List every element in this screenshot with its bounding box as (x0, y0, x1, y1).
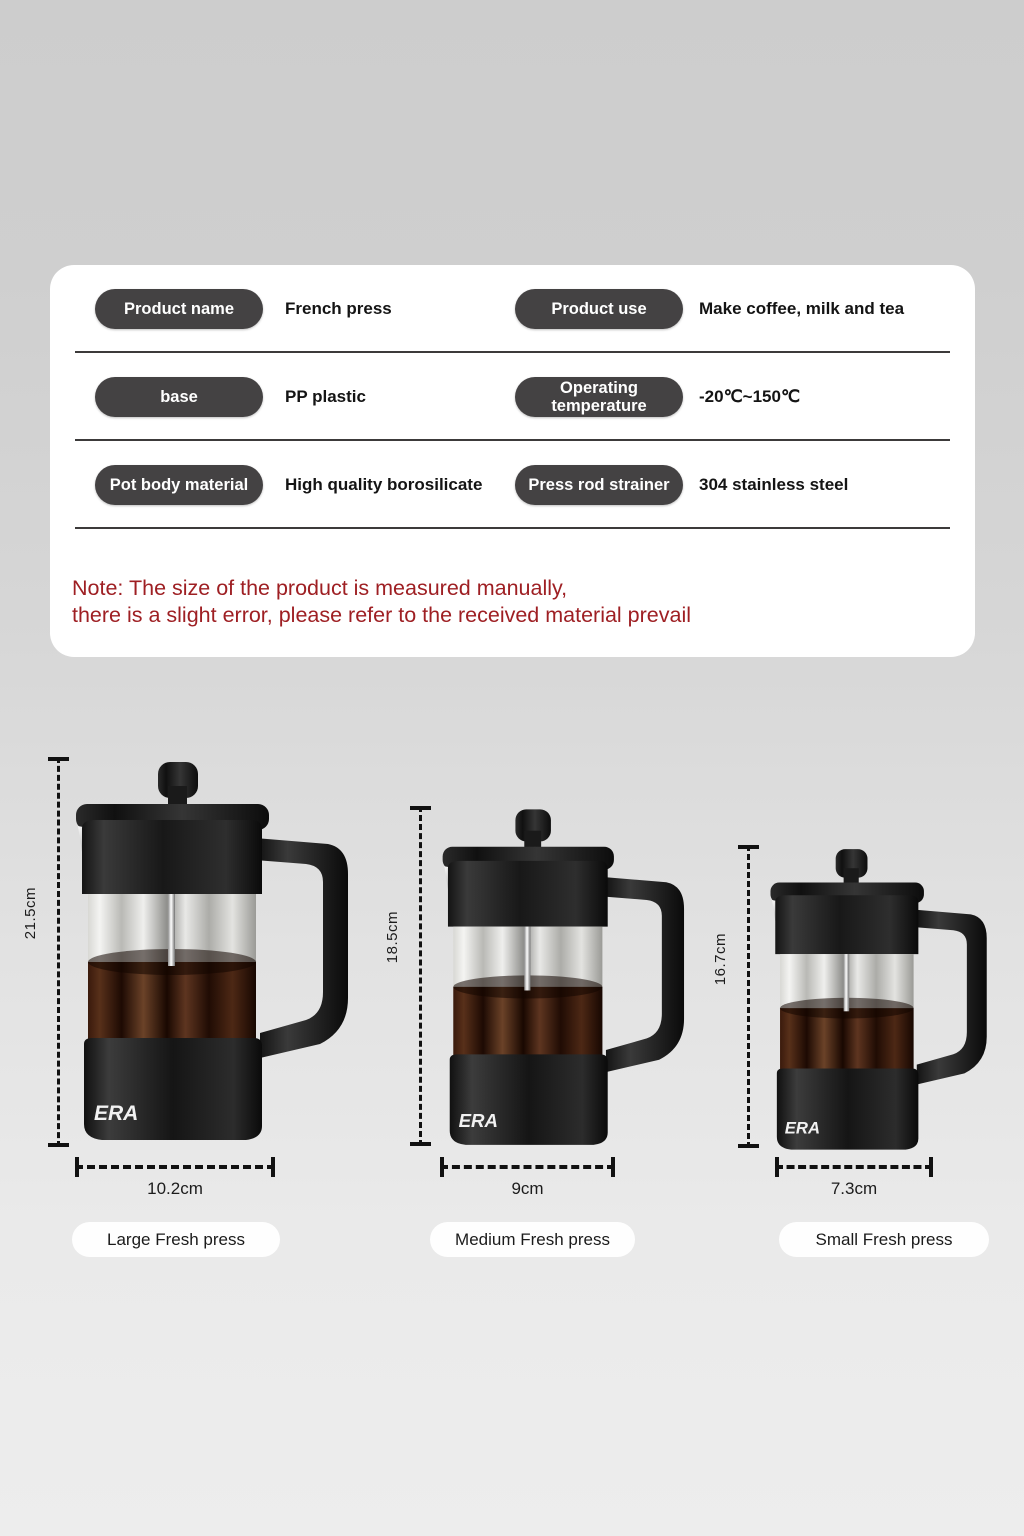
spec-label-press-rod-strainer: Press rod strainer (515, 465, 683, 505)
brand-mark: ERA (459, 1110, 498, 1131)
height-label-medium: 18.5cm (384, 911, 401, 963)
dimension-line (775, 1165, 933, 1169)
spec-cell: Product use Make coffee, milk and tea (515, 289, 955, 329)
width-label-small: 7.3cm (775, 1179, 933, 1199)
dimension-cap-bottom (410, 1142, 431, 1146)
product-name-pill-small: Small Fresh press (779, 1222, 989, 1257)
spec-value-operating-temperature: -20℃~150℃ (699, 387, 800, 407)
note-line-2: there is a slight error, please refer to… (72, 602, 902, 629)
dimension-cap-left (440, 1157, 444, 1177)
dimension-cap-bottom (48, 1143, 69, 1147)
spec-label-operating-temperature: Operating temperature (515, 377, 683, 417)
dimension-cap-right (271, 1157, 275, 1177)
dimension-line (419, 806, 422, 1146)
spec-label-product-use: Product use (515, 289, 683, 329)
brand-mark: ERA (785, 1119, 820, 1138)
dimension-line (747, 845, 750, 1148)
dimension-cap-right (611, 1157, 615, 1177)
french-press-large: ERA (70, 748, 360, 1148)
french-press-small: ERA (765, 838, 997, 1156)
spec-cell: Press rod strainer 304 stainless steel (515, 465, 955, 505)
height-label-small: 16.7cm (712, 933, 729, 985)
spec-cell: base PP plastic (95, 377, 515, 417)
spec-label-product-name: Product name (95, 289, 263, 329)
dimension-line (440, 1165, 615, 1169)
dimension-cap-bottom (738, 1144, 759, 1148)
table-row: base PP plastic Operating temperature -2… (50, 353, 975, 441)
handle (255, 838, 348, 1058)
dimension-cap-left (75, 1157, 79, 1177)
dimension-cap-right (929, 1157, 933, 1177)
brand-mark: ERA (94, 1102, 138, 1125)
spec-label-pot-body-material: Pot body material (95, 465, 263, 505)
plunger-rod (168, 894, 175, 966)
dimension-cap-top (410, 806, 431, 810)
spec-table: Product name French press Product use Ma… (50, 265, 975, 529)
upper-collar (448, 861, 608, 927)
plunger-rod (524, 927, 530, 991)
measurement-note: Note: The size of the product is measure… (72, 575, 902, 629)
dimension-cap-left (775, 1157, 779, 1177)
handle (913, 910, 987, 1085)
spec-cell: Operating temperature -20℃~150℃ (515, 377, 955, 417)
spec-label-base: base (95, 377, 263, 417)
width-label-large: 10.2cm (75, 1179, 275, 1199)
spec-value-base: PP plastic (285, 387, 366, 407)
note-line-1: Note: The size of the product is measure… (72, 575, 902, 602)
spec-value-pot-body-material: High quality borosilicate (285, 475, 482, 495)
upper-collar (775, 895, 918, 954)
product-name-pill-large: Large Fresh press (72, 1222, 280, 1257)
spec-value-product-use: Make coffee, milk and tea (699, 299, 904, 319)
base (450, 1054, 608, 1145)
product-name-pill-medium: Medium Fresh press (430, 1222, 635, 1257)
upper-collar (82, 820, 262, 894)
spec-cell: Pot body material High quality borosilic… (95, 465, 515, 505)
dimension-line (75, 1165, 275, 1169)
handle (602, 877, 685, 1072)
height-label-large: 21.5cm (22, 887, 39, 939)
dimension-cap-top (738, 845, 759, 849)
french-press-medium: ERA (437, 797, 695, 1152)
dimension-line (57, 757, 60, 1147)
spec-value-press-rod-strainer: 304 stainless steel (699, 475, 848, 495)
table-row: Pot body material High quality borosilic… (50, 441, 975, 529)
spec-value-product-name: French press (285, 299, 392, 319)
spec-cell: Product name French press (95, 289, 515, 329)
width-label-medium: 9cm (440, 1179, 615, 1199)
plunger-rod (844, 954, 850, 1011)
dimension-cap-top (48, 757, 69, 761)
table-row: Product name French press Product use Ma… (50, 265, 975, 353)
